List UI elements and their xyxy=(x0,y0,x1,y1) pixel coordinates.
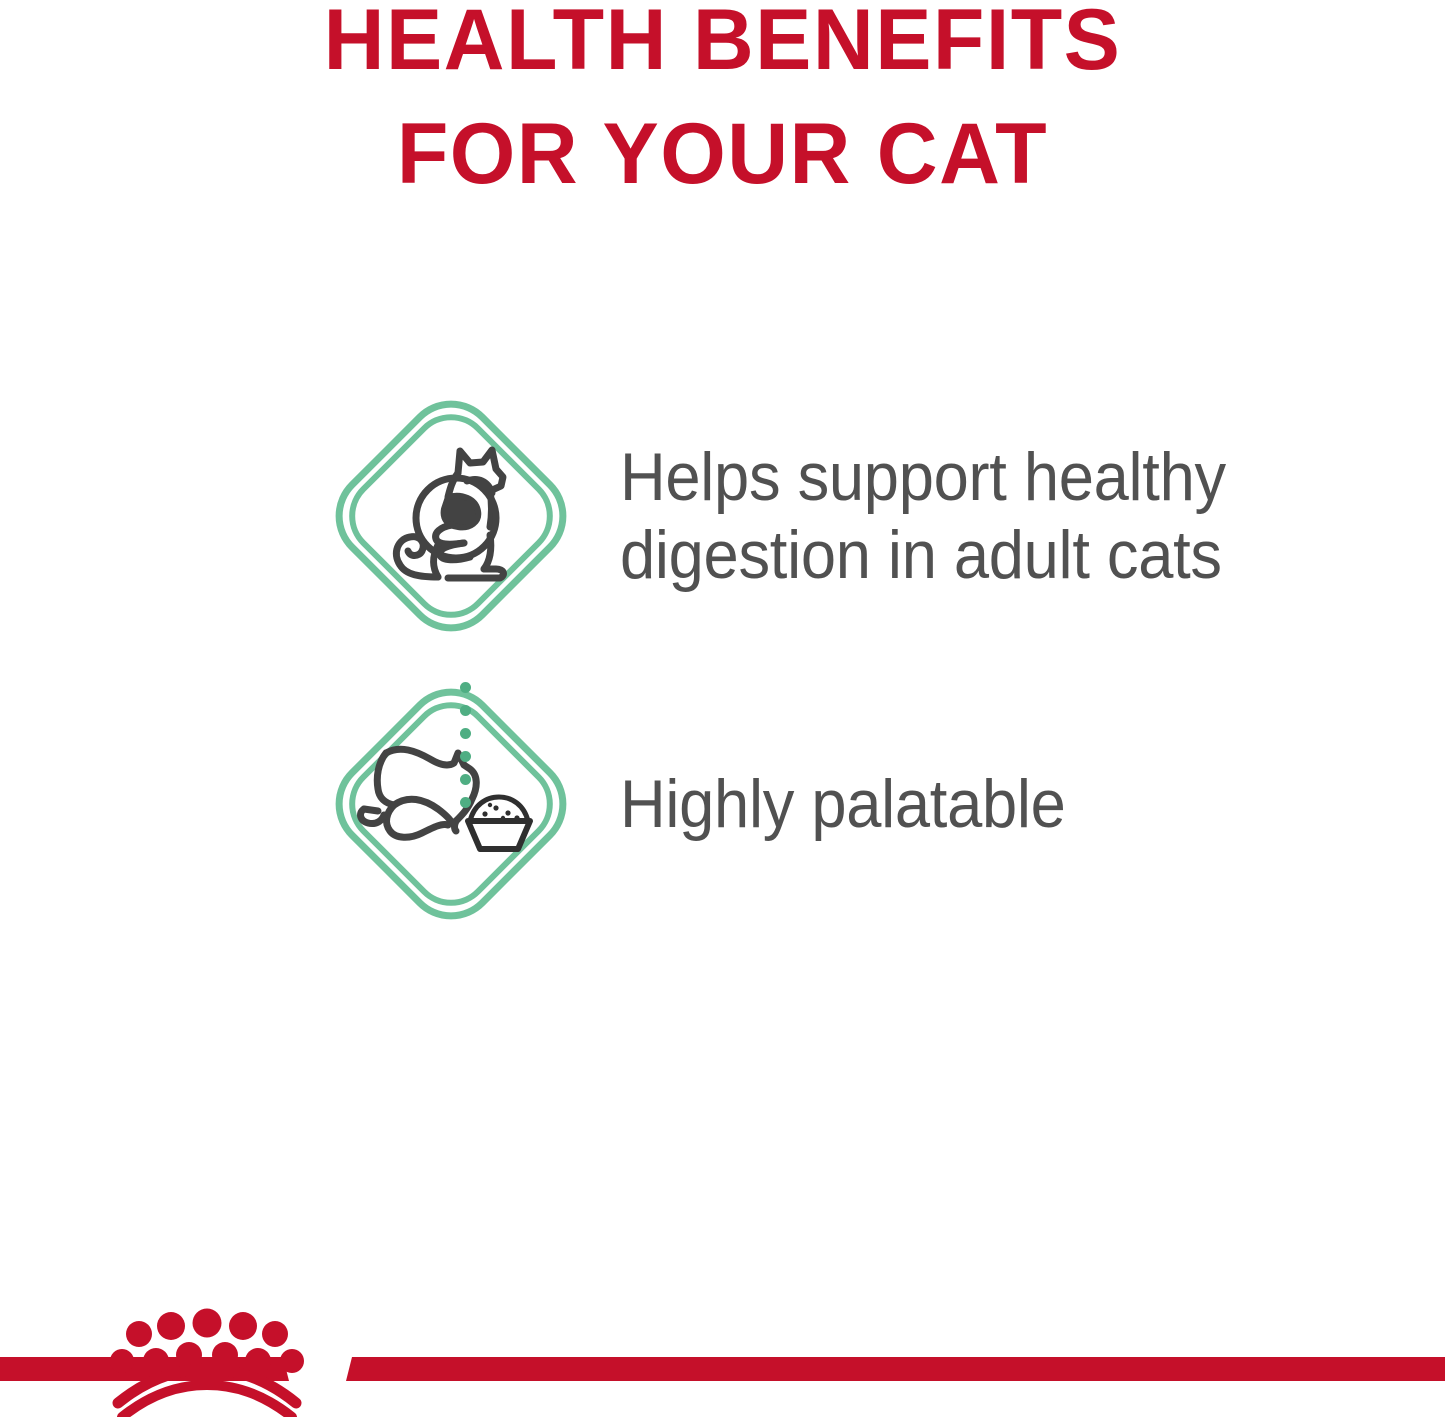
cat-eating-bowl-icon xyxy=(320,673,582,935)
benefit-item-palatability: Highly palatable xyxy=(0,660,1445,948)
benefit-text-cell: Helps support healthy digestion in adult… xyxy=(620,438,1445,594)
royal-canin-crown-logo xyxy=(0,1299,1445,1417)
page-title-line-2: FOR YOUR CAT xyxy=(14,98,1430,212)
benefit-icon-cell xyxy=(0,385,620,647)
page-title-line-1: HEALTH BENEFITS xyxy=(14,0,1430,98)
benefit-label-palatability: Highly palatable xyxy=(620,765,1350,843)
health-benefits-panel: HEALTH BENEFITS FOR YOUR CAT xyxy=(0,0,1445,1417)
benefit-text-cell: Highly palatable xyxy=(620,765,1445,843)
benefit-item-digestion: Helps support healthy digestion in adult… xyxy=(0,372,1445,660)
cat-digestion-icon xyxy=(320,385,582,647)
benefit-list: Helps support healthy digestion in adult… xyxy=(0,372,1445,948)
benefit-icon-cell xyxy=(0,673,620,935)
page-title: HEALTH BENEFITS FOR YOUR CAT xyxy=(0,0,1445,211)
benefit-label-digestion: Helps support healthy digestion in adult… xyxy=(620,438,1350,594)
